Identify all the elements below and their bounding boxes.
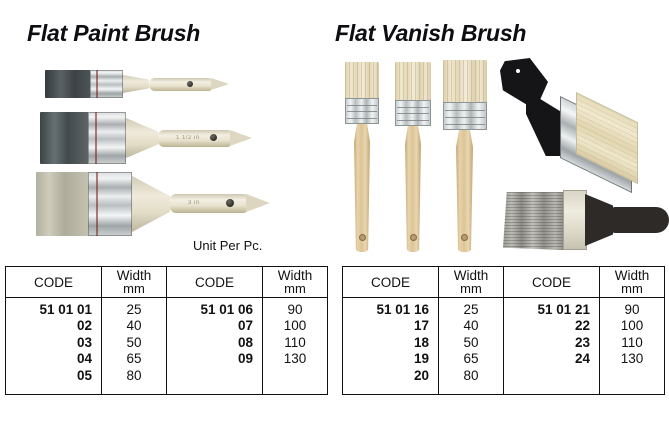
code-list-a: 51 01 1617181920 bbox=[343, 302, 438, 384]
width-list-a: 2540506580 bbox=[102, 302, 166, 384]
table-cell-value: 50 bbox=[439, 335, 503, 351]
ferrule bbox=[90, 70, 123, 98]
table-cell-value: 51 01 06 bbox=[167, 302, 262, 318]
right-spec-table: CODE Width mm CODE Width mm 51 01 161718… bbox=[342, 266, 665, 395]
header-code-1: CODE bbox=[343, 267, 439, 298]
hang-hole bbox=[516, 69, 520, 73]
handle-stamp: 3 in bbox=[188, 200, 200, 206]
ferrule bbox=[88, 112, 126, 164]
table-cell-value: 100 bbox=[263, 318, 327, 334]
header-code-2: CODE bbox=[504, 267, 600, 298]
table-cell-value: 40 bbox=[102, 318, 166, 334]
table-cell-value: 05 bbox=[6, 368, 101, 384]
table-row: 51 01 1617181920 2540506580 51 01 212223… bbox=[343, 298, 665, 395]
left-product-panel: Flat Paint Brush 1 1/2 in 3 in Unit Per … bbox=[0, 0, 335, 429]
left-spec-table: CODE Width mm CODE Width mm 51 01 010203… bbox=[5, 266, 328, 395]
bristles bbox=[36, 172, 88, 236]
bristles bbox=[345, 62, 379, 98]
code-list-a: 51 01 0102030405 bbox=[6, 302, 101, 384]
handle-grip bbox=[611, 207, 669, 233]
left-panel-title: Flat Paint Brush bbox=[27, 20, 200, 47]
table-cell-value: 51 01 21 bbox=[504, 302, 599, 318]
ferrule bbox=[88, 172, 132, 236]
flat-paint-brush-medium-image: 1 1/2 in bbox=[40, 112, 255, 164]
table-cell-value: 50 bbox=[102, 335, 166, 351]
hang-hole bbox=[410, 234, 417, 241]
header-width-2: Width mm bbox=[600, 267, 665, 298]
table-row: 51 01 0102030405 2540506580 51 01 060708… bbox=[6, 298, 328, 395]
right-product-panel: Flat Vanish Brush bbox=[335, 0, 669, 429]
table-cell-value: 25 bbox=[102, 302, 166, 318]
header-width-2: Width mm bbox=[263, 267, 328, 298]
handle bbox=[170, 194, 246, 213]
table-cell-value: 17 bbox=[343, 318, 438, 334]
codes-cell-a: 51 01 0102030405 bbox=[6, 298, 102, 395]
table-cell-value: 04 bbox=[6, 351, 101, 367]
flat-paint-brush-small-image bbox=[45, 70, 235, 98]
flat-paint-brush-large-image: 3 in bbox=[36, 172, 276, 236]
flat-vanish-brush-medium-image bbox=[395, 62, 431, 252]
flat-vanish-brush-wide-image bbox=[443, 60, 487, 252]
handle-tip bbox=[230, 130, 252, 146]
ferrule bbox=[345, 98, 379, 124]
codes-cell-b: 51 01 21222324 bbox=[504, 298, 600, 395]
table-cell-value: 90 bbox=[263, 302, 327, 318]
table-cell-value: 130 bbox=[600, 351, 664, 367]
table-cell-value: 07 bbox=[167, 318, 262, 334]
width-list-a: 2540506580 bbox=[439, 302, 503, 384]
bristles bbox=[503, 192, 565, 250]
hang-hole bbox=[359, 234, 366, 241]
table-cell-value: 110 bbox=[600, 335, 664, 351]
table-cell-value: 23 bbox=[504, 335, 599, 351]
table-cell-value: 22 bbox=[504, 318, 599, 334]
table-cell-value: 02 bbox=[6, 318, 101, 334]
table-cell-value: 24 bbox=[504, 351, 599, 367]
width-list-b: 90100110130 bbox=[600, 302, 664, 368]
table-cell-value: 80 bbox=[439, 368, 503, 384]
handle bbox=[149, 78, 211, 91]
ferrule bbox=[443, 102, 487, 130]
handle-rivet bbox=[210, 134, 217, 141]
table-cell-value: 08 bbox=[167, 335, 262, 351]
table-cell-value: 65 bbox=[439, 351, 503, 367]
table-cell-value: 51 01 16 bbox=[343, 302, 438, 318]
codes-cell-b: 51 01 06070809 bbox=[167, 298, 263, 395]
handle-neck bbox=[126, 118, 158, 158]
widths-cell-a: 2540506580 bbox=[439, 298, 504, 395]
handle-neck bbox=[132, 176, 170, 232]
handle-tip bbox=[246, 194, 270, 212]
table-cell-value: 25 bbox=[439, 302, 503, 318]
handle-rivet bbox=[226, 199, 234, 207]
header-code-2: CODE bbox=[167, 267, 263, 298]
right-panel-title: Flat Vanish Brush bbox=[335, 20, 526, 47]
table-cell-value: 40 bbox=[439, 318, 503, 334]
code-list-b: 51 01 06070809 bbox=[167, 302, 262, 368]
handle-tip bbox=[211, 78, 229, 90]
bristles bbox=[45, 70, 90, 98]
table-cell-value: 90 bbox=[600, 302, 664, 318]
widths-cell-b: 90100110130 bbox=[263, 298, 328, 395]
flat-vanish-brush-narrow-image bbox=[345, 62, 379, 252]
widths-cell-b: 90100110130 bbox=[600, 298, 665, 395]
bristles bbox=[395, 62, 431, 100]
table-cell-value: 65 bbox=[102, 351, 166, 367]
wide-black-handle-brush-image bbox=[500, 58, 640, 163]
table-cell-value: 09 bbox=[167, 351, 262, 367]
table-cell-value: 110 bbox=[263, 335, 327, 351]
hang-hole bbox=[461, 234, 468, 241]
width-list-b: 90100110130 bbox=[263, 302, 327, 368]
table-header-row: CODE Width mm CODE Width mm bbox=[6, 267, 328, 298]
table-cell-value: 130 bbox=[263, 351, 327, 367]
table-cell-value: 100 bbox=[600, 318, 664, 334]
ferrule bbox=[563, 190, 587, 250]
unit-per-piece-note: Unit Per Pc. bbox=[193, 238, 262, 253]
table-cell-value: 80 bbox=[102, 368, 166, 384]
handle bbox=[585, 194, 613, 246]
ferrule bbox=[395, 100, 431, 126]
table-cell-value: 51 01 01 bbox=[6, 302, 101, 318]
table-header-row: CODE Width mm CODE Width mm bbox=[343, 267, 665, 298]
code-list-b: 51 01 21222324 bbox=[504, 302, 599, 368]
bristles bbox=[40, 112, 88, 164]
handle bbox=[354, 124, 370, 252]
widths-cell-a: 2540506580 bbox=[102, 298, 167, 395]
handle-neck bbox=[123, 75, 149, 93]
bristles bbox=[443, 60, 487, 102]
handle-stamp: 1 1/2 in bbox=[176, 135, 200, 141]
codes-cell-a: 51 01 1617181920 bbox=[343, 298, 439, 395]
handle-rivet bbox=[187, 81, 193, 87]
header-width-1: Width mm bbox=[102, 267, 167, 298]
table-cell-value: 03 bbox=[6, 335, 101, 351]
table-cell-value: 19 bbox=[343, 351, 438, 367]
table-cell-value: 20 bbox=[343, 368, 438, 384]
header-width-1: Width mm bbox=[439, 267, 504, 298]
gray-bristle-brush-image bbox=[503, 190, 653, 252]
table-cell-value: 18 bbox=[343, 335, 438, 351]
header-code-1: CODE bbox=[6, 267, 102, 298]
